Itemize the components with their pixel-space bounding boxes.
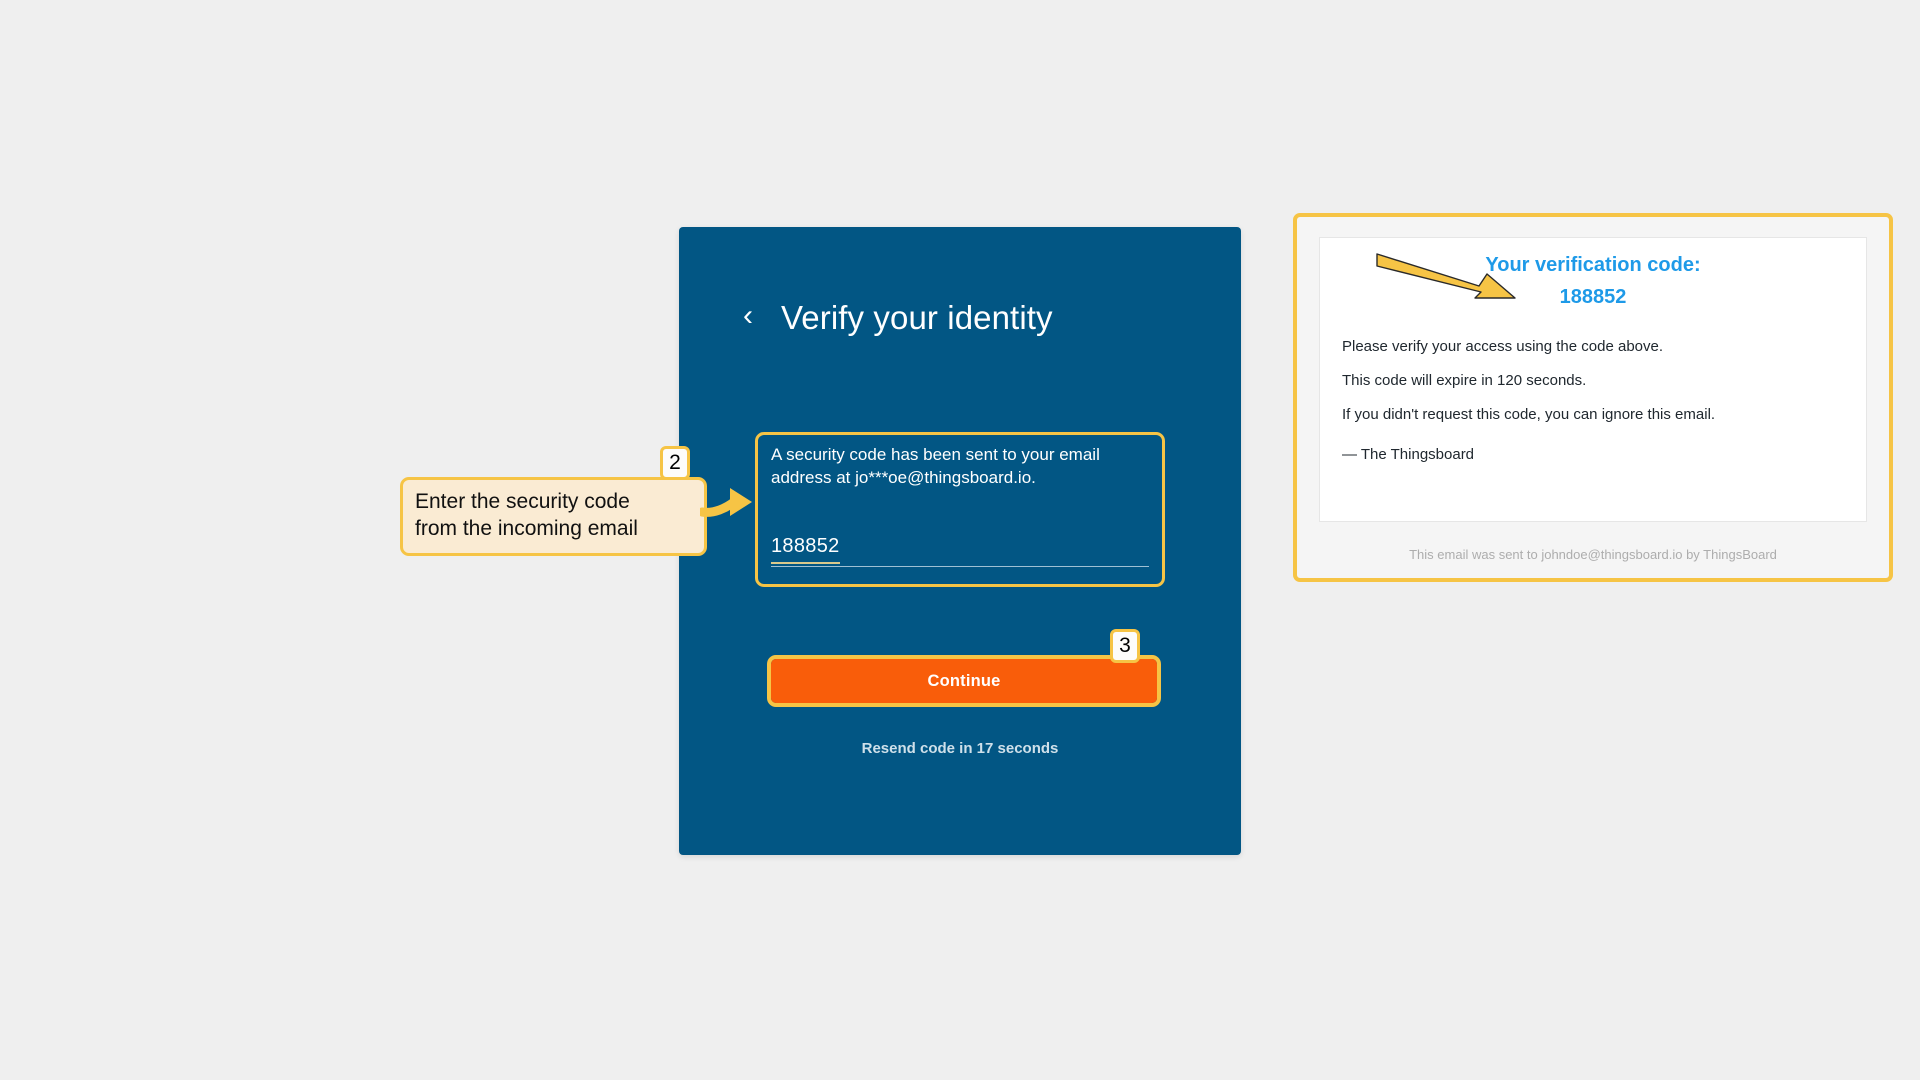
security-code-input-wrap[interactable]: 188852 xyxy=(771,535,1149,567)
email-code-title: Your verification code: xyxy=(1320,252,1866,278)
email-preview-panel: Your verification code: 188852 Please ve… xyxy=(1293,213,1893,582)
email-body: Please verify your access using the code… xyxy=(1342,338,1844,463)
security-code-input[interactable]: 188852 xyxy=(771,535,840,564)
step-badge-2: 2 xyxy=(660,446,690,480)
security-code-highlight-region: A security code has been sent to your em… xyxy=(755,432,1165,587)
email-code-value: 188852 xyxy=(1320,284,1866,310)
email-body-line-3: If you didn't request this code, you can… xyxy=(1342,406,1844,424)
security-code-hint: A security code has been sent to your em… xyxy=(771,444,1151,489)
page-title: Verify your identity xyxy=(781,299,1053,337)
verify-header: ‹ Verify your identity xyxy=(743,299,1053,337)
email-body-line-1: Please verify your access using the code… xyxy=(1342,338,1844,356)
email-code-block: Your verification code: 188852 xyxy=(1320,252,1866,310)
callout-arrow-icon xyxy=(700,478,760,528)
continue-button[interactable]: Continue xyxy=(771,659,1157,703)
email-signoff: — The Thingsboard xyxy=(1342,446,1844,463)
callout-step-2: Enter the security code from the incomin… xyxy=(400,477,707,556)
email-card: Your verification code: 188852 Please ve… xyxy=(1319,237,1867,522)
input-underline xyxy=(771,566,1149,567)
step-badge-3: 3 xyxy=(1110,629,1140,663)
email-body-line-2: This code will expire in 120 seconds. xyxy=(1342,372,1844,390)
callout-line-1: Enter the security code xyxy=(415,488,692,515)
verify-identity-panel: ‹ Verify your identity A security code h… xyxy=(679,227,1241,855)
callout-line-2: from the incoming email xyxy=(415,515,692,542)
resend-code-status: Resend code in 17 seconds xyxy=(679,740,1241,757)
email-footer-note: This email was sent to johndoe@thingsboa… xyxy=(1297,547,1889,562)
chevron-left-icon[interactable]: ‹ xyxy=(743,301,753,335)
